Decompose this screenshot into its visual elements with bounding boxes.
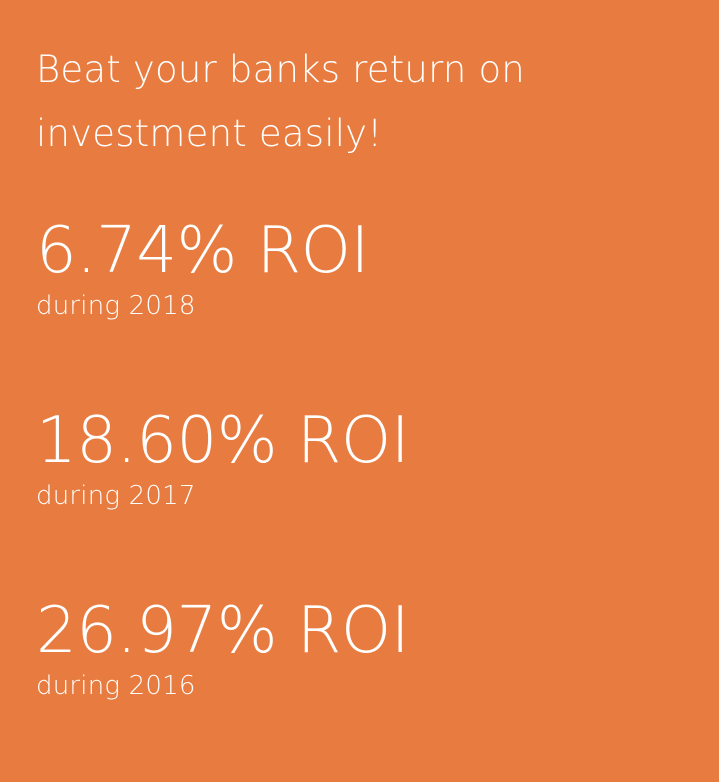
roi-stats-list: 6.74% ROI during 2018 18.60% ROI during … xyxy=(0,212,719,782)
roi-stat-2018: 6.74% ROI during 2018 xyxy=(0,212,719,402)
roi-caption: during 2016 xyxy=(36,670,719,702)
roi-promo-panel: Beat your banks return on investment eas… xyxy=(0,0,719,776)
roi-value: 6.74% ROI xyxy=(36,212,719,290)
roi-caption: during 2017 xyxy=(36,480,719,512)
roi-stat-2016: 26.97% ROI during 2016 xyxy=(0,592,719,782)
roi-value: 26.97% ROI xyxy=(36,592,719,670)
roi-stat-2017: 18.60% ROI during 2017 xyxy=(0,402,719,592)
page-title: Beat your banks return on investment eas… xyxy=(36,38,676,166)
roi-value: 18.60% ROI xyxy=(36,402,719,480)
roi-caption: during 2018 xyxy=(36,290,719,322)
